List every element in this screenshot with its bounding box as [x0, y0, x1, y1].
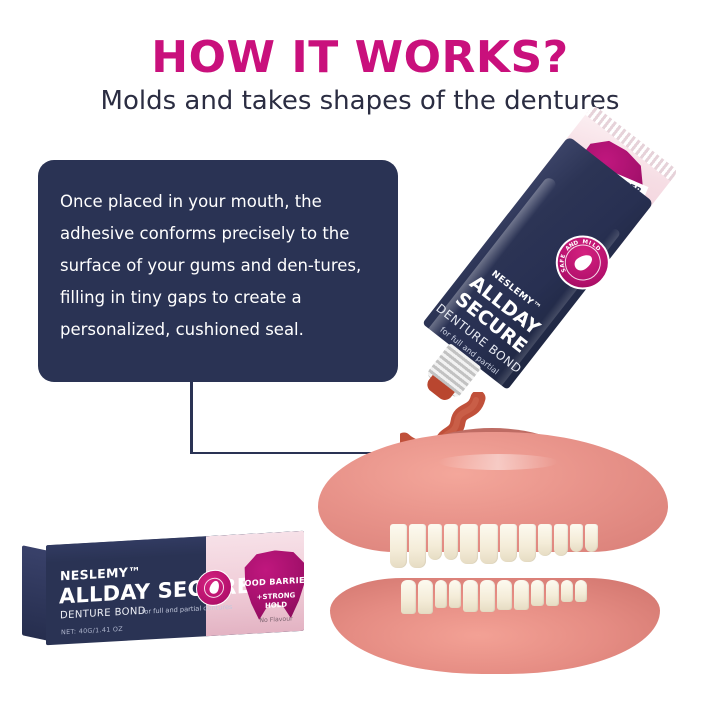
tooth	[575, 580, 587, 602]
box-side-panel	[22, 545, 48, 641]
tooth	[435, 580, 447, 608]
product-box: NESLEMY™ ALLDAY SECURE DENTURE BOND for …	[22, 534, 304, 650]
tooth	[418, 580, 433, 614]
gum-highlight	[438, 454, 558, 470]
tooth	[497, 580, 512, 610]
tooth	[585, 524, 598, 552]
tooth	[514, 580, 529, 610]
callout-text: Once placed in your mouth, the adhesive …	[60, 186, 372, 346]
denture-upper-teeth	[330, 524, 658, 586]
tooth	[449, 580, 461, 608]
tooth	[538, 524, 552, 556]
tooth	[463, 580, 478, 612]
denture-lower-teeth	[338, 580, 650, 632]
tooth	[561, 580, 573, 602]
page-title: HOW IT WORKS?	[0, 32, 720, 83]
denture-set	[312, 428, 674, 680]
tooth	[428, 524, 442, 560]
box-food-barrier-badge: FOOD BARRIER +STRONG HOLD	[242, 549, 304, 623]
tooth	[519, 524, 536, 562]
tooth	[444, 524, 458, 560]
box-front-panel: NESLEMY™ ALLDAY SECURE DENTURE BOND for …	[46, 531, 304, 645]
tooth	[409, 524, 426, 568]
box-net-weight: NET: 40G/1.41 OZ	[61, 625, 123, 636]
tooth	[401, 580, 416, 614]
tooth	[570, 524, 583, 552]
tooth	[460, 524, 478, 564]
tooth	[390, 524, 407, 568]
callout-pointer-vertical	[190, 382, 193, 454]
tooth	[531, 580, 544, 606]
tooth	[480, 524, 498, 564]
tooth	[480, 580, 495, 612]
tooth	[500, 524, 517, 562]
callout-box: Once placed in your mouth, the adhesive …	[38, 160, 398, 382]
infographic-canvas: HOW IT WORKS? Molds and takes shapes of …	[0, 0, 720, 720]
tooth	[546, 580, 559, 606]
product-tube: FOOD BARRIER +STRONG HOLD No Flavour NES…	[432, 96, 720, 426]
box-strong-hold-label: +STRONG HOLD	[255, 591, 297, 611]
box-product-subtitle: DENTURE BOND	[60, 606, 146, 622]
tooth	[554, 524, 568, 556]
